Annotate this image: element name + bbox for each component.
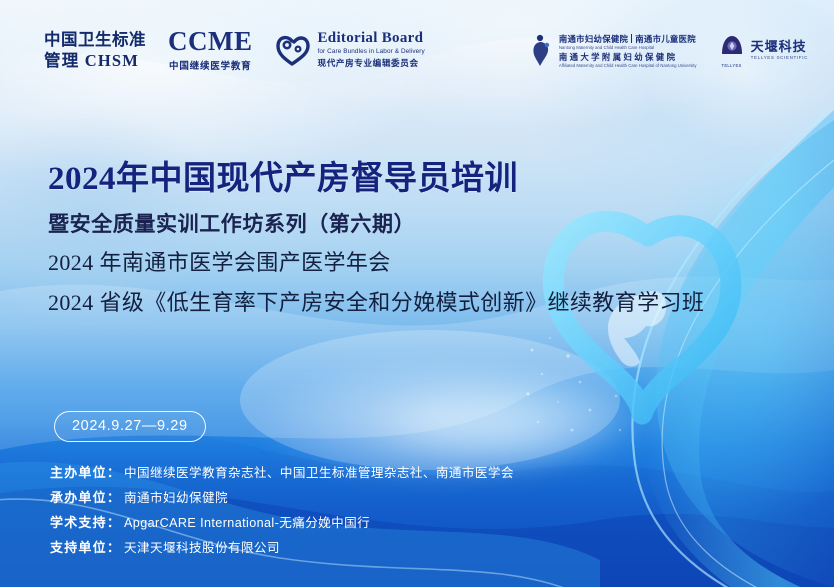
logo-tellyes-line2: TELLYES SCIENTIFIC: [751, 55, 808, 60]
subtitle-3: 2024 省级《低生育率下产房安全和分娩模式创新》继续教育学习班: [48, 285, 704, 317]
tellyes-mark-icon: [719, 33, 745, 57]
conference-poster: 中国卫生标准 管理 CHSM CCME 中国继续医学教育 Editorial B…: [0, 0, 834, 587]
logo-ccme-abbr: CCME: [168, 28, 253, 55]
logo-hospital-row3: 南通大学附属妇幼保健院: [559, 51, 697, 63]
organizer-value: 南通市妇幼保健院: [124, 487, 228, 506]
logo-hospital-row1b: 南通市儿童医院: [635, 34, 696, 44]
organizer-row: 承办单位： 南通市妇幼保健院: [50, 487, 514, 506]
subtitle-1: 暨安全质量实训工作坊系列（第六期）: [48, 208, 704, 238]
main-title: 2024年中国现代产房督导员培训: [48, 160, 704, 199]
logo-tellyes-line1: 天堰科技: [751, 40, 808, 54]
logo-eb-line3: 现代产房专业编辑委员会: [318, 57, 425, 69]
organizer-row: 主办单位： 中国继续医学教育杂志社、中国卫生标准管理杂志社、南通市医学会: [50, 462, 514, 481]
logo-hospital-row2: Nantong Maternity and Child Health Care …: [559, 45, 697, 50]
logo-group-left: 中国卫生标准 管理 CHSM CCME 中国继续医学教育 Editorial B…: [44, 28, 425, 72]
logo-nantong-hospital: 南通市妇幼保健院南通市儿童医院 Nantong Maternity and Ch…: [531, 33, 697, 68]
organizer-value: 中国继续医学教育杂志社、中国卫生标准管理杂志社、南通市医学会: [124, 462, 514, 481]
logo-hospital-row1a: 南通市妇幼保健院: [559, 34, 628, 44]
organizer-label: 承办单位：: [50, 487, 124, 506]
logo-chsm: 中国卫生标准 管理 CHSM: [44, 29, 146, 71]
logo-hospital-row1: 南通市妇幼保健院南通市儿童医院: [559, 33, 697, 45]
organizer-label: 主办单位：: [50, 462, 124, 481]
organizer-label: 学术支持：: [50, 512, 124, 531]
organizer-list: 主办单位： 中国继续医学教育杂志社、中国卫生标准管理杂志社、南通市医学会 承办单…: [50, 462, 514, 562]
tellyes-mark-label: TELLYES: [719, 63, 745, 68]
organizer-row: 学术支持： ApgarCARE International-无痛分娩中国行: [50, 512, 514, 531]
logo-hospital-text: 南通市妇幼保健院南通市儿童医院 Nantong Maternity and Ch…: [559, 33, 697, 68]
organizer-value: ApgarCARE International-无痛分娩中国行: [124, 512, 370, 531]
logo-bar: 中国卫生标准 管理 CHSM CCME 中国继续医学教育 Editorial B…: [0, 0, 834, 100]
date-badge: 2024.9.27—9.29: [54, 411, 206, 442]
logo-group-right: 南通市妇幼保健院南通市儿童医院 Nantong Maternity and Ch…: [531, 33, 808, 68]
logo-eb-line1: Editorial Board: [318, 31, 425, 47]
logo-hospital-row2a: Nantong Maternity and Child Health Care …: [559, 45, 654, 50]
logo-chsm-line2: 管理 CHSM: [44, 50, 146, 71]
logo-eb-line2: for Care Bundles in Labor & Delivery: [318, 47, 425, 57]
logo-tellyes: TELLYES 天堰科技 TELLYES SCIENTIFIC: [719, 33, 808, 68]
logo-hospital-divider: [631, 34, 632, 43]
logo-editorial-board: Editorial Board for Care Bundles in Labo…: [275, 31, 425, 69]
organizer-row: 支持单位： 天津天堰科技股份有限公司: [50, 537, 514, 556]
logo-editorial-board-text: Editorial Board for Care Bundles in Labo…: [318, 31, 425, 69]
logo-ccme-sub: 中国继续医学教育: [168, 58, 253, 72]
organizer-label: 支持单位：: [50, 537, 124, 556]
organizer-value: 天津天堰科技股份有限公司: [124, 537, 280, 556]
logo-chsm-line1: 中国卫生标准: [44, 29, 146, 50]
logo-tellyes-text: 天堰科技 TELLYES SCIENTIFIC: [751, 40, 808, 60]
heart-mother-baby-icon: [275, 33, 311, 67]
tellyes-mark-wrap: TELLYES: [719, 33, 745, 68]
title-block: 2024年中国现代产房督导员培训 暨安全质量实训工作坊系列（第六期） 2024 …: [48, 160, 704, 317]
subtitle-2: 2024 年南通市医学会围产医学年会: [48, 245, 704, 277]
logo-ccme: CCME 中国继续医学教育: [168, 28, 253, 72]
hospital-figure-icon: [531, 33, 553, 67]
logo-hospital-row4: Affiliated Maternity and Child Health Ca…: [559, 63, 697, 68]
